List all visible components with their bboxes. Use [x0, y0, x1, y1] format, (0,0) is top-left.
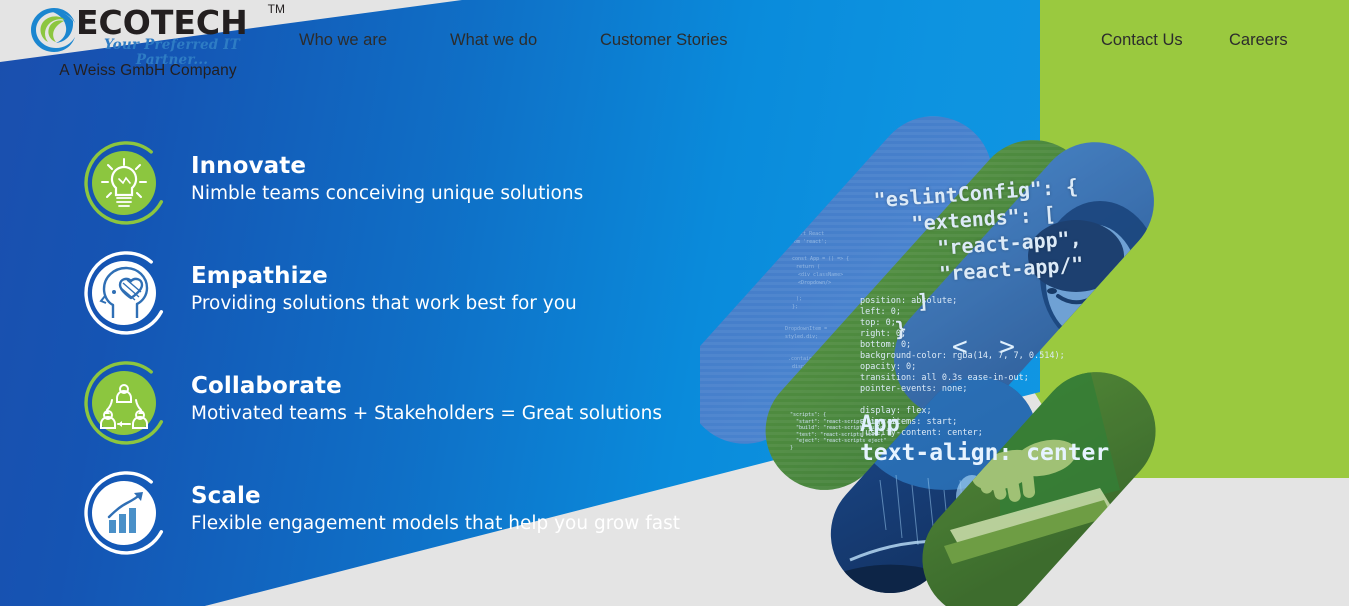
svg-text:DropdownItem =: DropdownItem =: [785, 326, 827, 332]
trademark-symbol: TM: [268, 2, 285, 16]
svg-text:from 'react';: from 'react';: [788, 239, 827, 245]
feature-title: Innovate: [191, 153, 583, 180]
feature-title: Scale: [191, 483, 680, 510]
svg-text:);: );: [796, 296, 802, 302]
people-network-icon: [83, 360, 169, 446]
svg-text:</>: </>: [795, 206, 804, 212]
nav-item-what-we-do[interactable]: What we do: [450, 31, 537, 50]
main-navigation: Who we are What we do Customer Stories C…: [0, 31, 1349, 55]
feature-title: Collaborate: [191, 373, 662, 400]
svg-text:styled.div;: styled.div;: [785, 334, 818, 340]
lightbulb-icon: [83, 140, 169, 226]
hero-banner: </> import React from 'react'; const App…: [0, 0, 1349, 606]
feature-description: Nimble teams conceiving unique solutions: [191, 181, 583, 206]
nav-item-who-we-are[interactable]: Who we are: [299, 31, 387, 50]
feature-title: Empathize: [191, 263, 577, 290]
svg-text:const App = () => {: const App = () => {: [792, 256, 849, 262]
feature-description: Flexible engagement models that help you…: [191, 511, 680, 536]
feature-description: Providing solutions that work best for y…: [191, 291, 577, 316]
nav-item-careers[interactable]: Careers: [1229, 31, 1288, 50]
svg-text:<Dropdown/>: <Dropdown/>: [798, 280, 831, 286]
nav-item-customer-stories[interactable]: Customer Stories: [600, 31, 727, 50]
svg-text:return (: return (: [796, 264, 820, 270]
collage-svg: </> import React from 'react'; const App…: [700, 60, 1200, 606]
svg-text:import React: import React: [788, 231, 824, 237]
nav-item-contact-us[interactable]: Contact Us: [1101, 31, 1183, 50]
hero-image-collage: </> import React from 'react'; const App…: [700, 60, 1200, 606]
feature-description: Motivated teams + Stakeholders = Great s…: [191, 401, 662, 426]
svg-text:<div className>: <div className>: [798, 272, 843, 278]
bar-chart-growth-icon: [83, 470, 169, 556]
head-heart-icon: [83, 250, 169, 336]
svg-text:};: };: [792, 304, 798, 310]
